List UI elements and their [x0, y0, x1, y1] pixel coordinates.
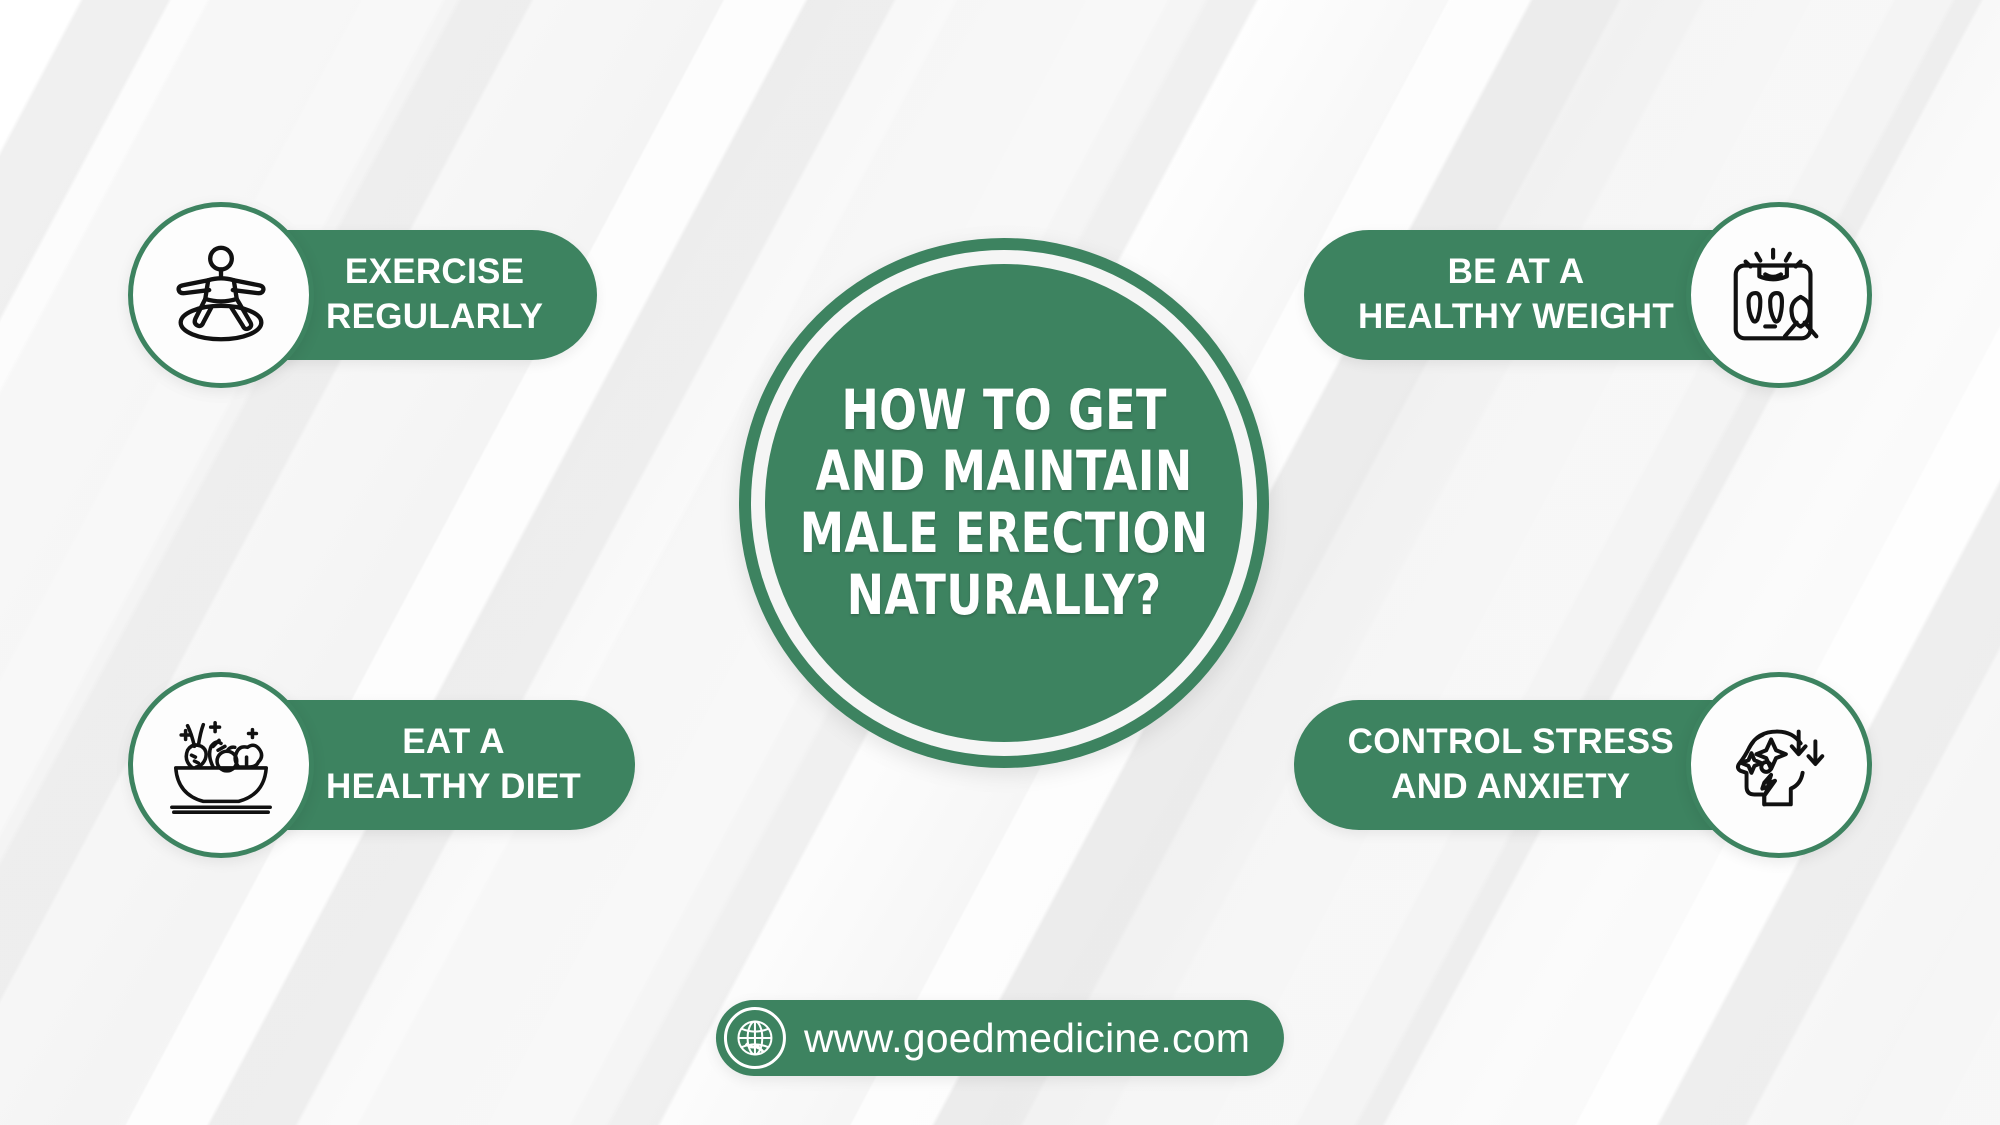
- center-disc: HOW TO GET AND MAINTAIN MALE ERECTION NA…: [765, 264, 1243, 742]
- center-title-line-4: NATURALLY?: [800, 565, 1209, 627]
- page-title: HOW TO GET AND MAINTAIN MALE ERECTION NA…: [776, 380, 1232, 626]
- center-title-line-3: MALE ERECTION: [800, 503, 1209, 565]
- website-url-bar[interactable]: www.goedmedicine.com: [716, 1000, 1284, 1076]
- pill-stress-line-1: CONTROL STRESS: [1348, 720, 1674, 765]
- center-title-line-1: HOW TO GET: [800, 380, 1209, 442]
- node-be-at-healthy-weight[interactable]: BE AT A HEALTHY WEIGHT: [1304, 220, 1872, 370]
- pill-exercise-line-1: EXERCISE: [326, 250, 543, 295]
- pill-diet-line-1: EAT A: [326, 720, 581, 765]
- pill-weight-line-1: BE AT A: [1358, 250, 1674, 295]
- website-url-text: www.goedmedicine.com: [804, 1015, 1250, 1062]
- pill-exercise-line-2: REGULARLY: [326, 295, 543, 340]
- globe-icon: [724, 1007, 786, 1069]
- node-control-stress-anxiety[interactable]: CONTROL STRESS AND ANXIETY: [1294, 690, 1872, 840]
- salad-bowl-icon: [128, 672, 314, 858]
- node-exercise-regularly[interactable]: EXERCISE REGULARLY: [128, 220, 597, 370]
- pill-weight-line-2: HEALTHY WEIGHT: [1358, 295, 1674, 340]
- weight-scale-icon: [1686, 202, 1872, 388]
- center-title-line-2: AND MAINTAIN: [800, 441, 1209, 503]
- pill-label-diet: EAT A HEALTHY DIET: [326, 720, 581, 810]
- infographic-canvas: HOW TO GET AND MAINTAIN MALE ERECTION NA…: [0, 0, 2000, 1125]
- pill-label-exercise: EXERCISE REGULARLY: [326, 250, 543, 340]
- stressed-head-icon: [1686, 672, 1872, 858]
- node-eat-healthy-diet[interactable]: EAT A HEALTHY DIET: [128, 690, 635, 840]
- yoga-exercise-icon: [128, 202, 314, 388]
- pill-label-weight: BE AT A HEALTHY WEIGHT: [1358, 250, 1674, 340]
- pill-label-stress: CONTROL STRESS AND ANXIETY: [1348, 720, 1674, 810]
- center-title-circle: HOW TO GET AND MAINTAIN MALE ERECTION NA…: [739, 238, 1269, 768]
- pill-stress-line-2: AND ANXIETY: [1348, 765, 1674, 810]
- pill-diet-line-2: HEALTHY DIET: [326, 765, 581, 810]
